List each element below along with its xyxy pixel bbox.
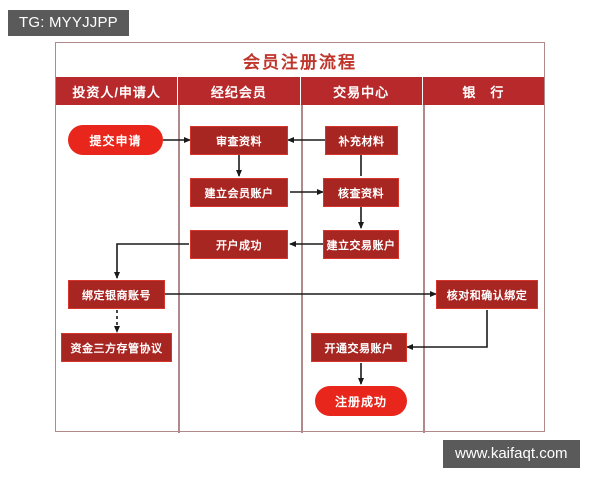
node-bind-bank-account-label: 绑定银商账号 (82, 287, 151, 303)
node-create-trading-account-label: 建立交易账户 (327, 237, 396, 253)
lane-header-investor-label: 投资人/申请人 (72, 82, 161, 101)
lane-header-bank-label: 银 行 (462, 82, 504, 101)
chart-title-bar: 会员注册流程 (56, 43, 544, 77)
node-verify-materials-label: 核查资料 (338, 185, 384, 201)
node-review-materials[interactable]: 审查资料 (190, 126, 288, 155)
lane-header-investor: 投资人/申请人 (56, 77, 178, 105)
lane-header-broker-label: 经纪会员 (211, 82, 267, 101)
node-open-trading-account[interactable]: 开通交易账户 (311, 333, 407, 362)
node-confirm-binding-label: 核对和确认绑定 (447, 287, 528, 303)
node-account-opened[interactable]: 开户成功 (190, 230, 288, 259)
node-review-materials-label: 审查资料 (216, 133, 262, 149)
node-submit-application-label: 提交申请 (89, 132, 141, 149)
node-registration-success[interactable]: 注册成功 (315, 386, 407, 416)
flowchart-frame: 会员注册流程 投资人/申请人 经纪会员 交易中心 银 行 (55, 42, 545, 432)
screenshot-stage: TG: MYYJJPP 会员注册流程 投资人/申请人 经纪会员 交易中心 银 行 (0, 0, 600, 480)
node-create-trading-account[interactable]: 建立交易账户 (323, 230, 399, 259)
chart-title: 会员注册流程 (243, 48, 357, 73)
node-submit-application[interactable]: 提交申请 (68, 125, 163, 155)
node-supplement-materials-label: 补充材料 (339, 133, 385, 149)
node-account-opened-label: 开户成功 (216, 237, 262, 253)
node-verify-materials[interactable]: 核查资料 (323, 178, 399, 207)
node-supplement-materials[interactable]: 补充材料 (325, 126, 398, 155)
node-bind-bank-account[interactable]: 绑定银商账号 (68, 280, 165, 309)
node-custody-agreement-label: 资金三方存管协议 (71, 340, 163, 356)
node-registration-success-label: 注册成功 (335, 393, 387, 410)
lane-header-exchange-label: 交易中心 (333, 82, 389, 101)
node-custody-agreement[interactable]: 资金三方存管协议 (61, 333, 172, 362)
lane-divider-3 (423, 105, 425, 433)
lane-header-bank: 银 行 (423, 77, 544, 105)
node-open-trading-account-label: 开通交易账户 (325, 340, 394, 356)
node-create-member-account[interactable]: 建立会员账户 (190, 178, 288, 207)
lane-header-row: 投资人/申请人 经纪会员 交易中心 银 行 (56, 77, 544, 105)
lane-divider-1 (178, 105, 180, 433)
lane-divider-2 (301, 105, 303, 433)
lane-header-exchange: 交易中心 (301, 77, 423, 105)
tg-channel-tag: TG: MYYJJPP (8, 10, 129, 36)
lane-header-broker: 经纪会员 (178, 77, 300, 105)
node-confirm-binding[interactable]: 核对和确认绑定 (436, 280, 538, 309)
site-watermark: www.kaifaqt.com (443, 440, 580, 468)
node-create-member-account-label: 建立会员账户 (205, 185, 274, 201)
